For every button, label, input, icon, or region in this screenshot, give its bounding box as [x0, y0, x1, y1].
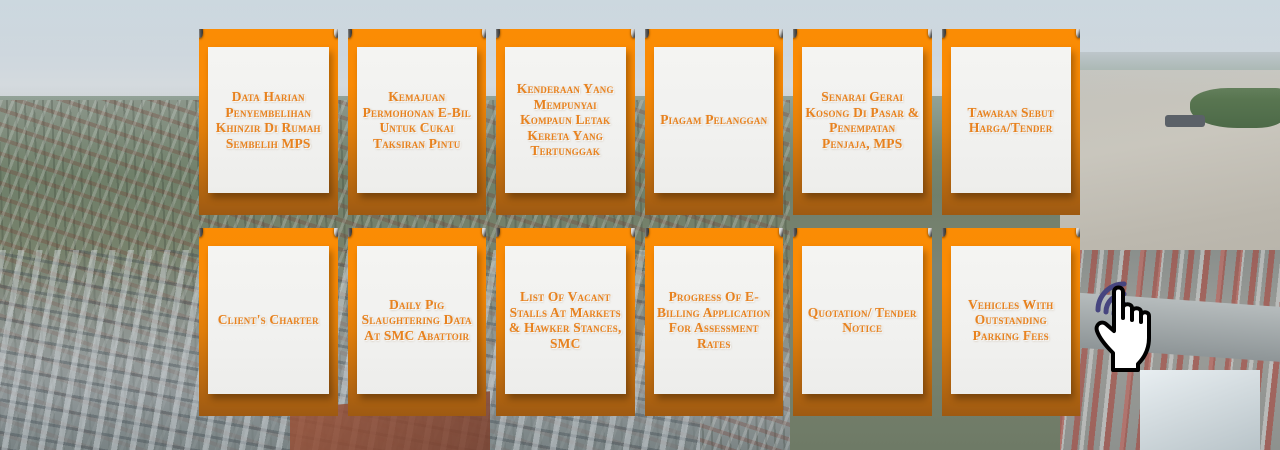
card-paper: Data Harian Penyembelihan Khinzir Di Rum… [208, 47, 329, 193]
pin-icon-right [481, 29, 486, 39]
pin-icon-right [1075, 228, 1080, 238]
pin-icon-right [926, 228, 931, 238]
pin-icon-left [199, 228, 204, 238]
pin-icon-left [942, 228, 947, 238]
pin-icon-left [793, 228, 798, 238]
service-card-list-of-vacant-stalls-markets-hawker-stances[interactable]: List Of Vacant Stalls At Markets & Hawke… [496, 228, 635, 416]
card-title: Vehicles With Outstanding Parking Fees [954, 297, 1069, 344]
service-card-data-harian-penyembelihan-khinzir[interactable]: Data Harian Penyembelihan Khinzir Di Rum… [199, 29, 338, 215]
card-paper: Kemajuan Permohonan e-Bil Untuk Cukai Ta… [357, 47, 478, 193]
service-card-tawaran-sebut-harga-tender[interactable]: Tawaran Sebut Harga/Tender [942, 29, 1081, 215]
card-paper: Client's Charter [208, 246, 329, 394]
card-title: Quotation/ Tender Notice [805, 305, 920, 336]
card-title: Daily Pig Slaughtering Data At SMC Abatt… [360, 297, 475, 344]
card-title: Tawaran Sebut Harga/Tender [954, 105, 1069, 136]
card-title: Client's Charter [218, 312, 319, 328]
page-root: Data Harian Penyembelihan Khinzir Di Rum… [0, 0, 1280, 450]
pin-icon-left [496, 29, 501, 39]
pin-icon-right [332, 228, 337, 238]
pin-icon-right [778, 228, 783, 238]
service-card-piagam-pelanggan[interactable]: Piagam Pelanggan [645, 29, 784, 215]
pin-icon-left [496, 228, 501, 238]
pin-icon-right [629, 29, 634, 39]
card-title: Piagam Pelanggan [660, 112, 767, 128]
card-paper: Piagam Pelanggan [654, 47, 775, 193]
pin-icon-right [778, 29, 783, 39]
pin-icon-left [645, 228, 650, 238]
service-card-progress-of-e-billing-application-assessment-rates[interactable]: Progress Of e-Billing Application For As… [645, 228, 784, 416]
card-title: Data Harian Penyembelihan Khinzir Di Rum… [211, 89, 326, 151]
card-title: Kemajuan Permohonan e-Bil Untuk Cukai Ta… [360, 89, 475, 151]
pin-icon-left [348, 29, 353, 39]
service-card-clients-charter[interactable]: Client's Charter [199, 228, 338, 416]
service-card-kemajuan-permohonan-e-bil-cukai-taksiran-pintu[interactable]: Kemajuan Permohonan e-Bil Untuk Cukai Ta… [348, 29, 487, 215]
pin-icon-left [942, 29, 947, 39]
service-card-grid: Data Harian Penyembelihan Khinzir Di Rum… [199, 29, 1080, 416]
card-title: List Of Vacant Stalls At Markets & Hawke… [508, 289, 623, 351]
card-title: Progress Of e-Billing Application For As… [657, 289, 772, 351]
pin-icon-right [926, 29, 931, 39]
card-paper: Senarai Gerai Kosong di Pasar & Penempat… [802, 47, 923, 193]
pin-icon-left [348, 228, 353, 238]
service-card-daily-pig-slaughtering-data-smc-abattoir[interactable]: Daily Pig Slaughtering Data At SMC Abatt… [348, 228, 487, 416]
pin-icon-right [481, 228, 486, 238]
card-paper: Progress Of e-Billing Application For As… [654, 246, 775, 394]
background-white-building [1140, 370, 1260, 450]
card-title: Senarai Gerai Kosong di Pasar & Penempat… [805, 89, 920, 151]
service-card-senarai-gerai-kosong-pasar-penempatan-penjaja[interactable]: Senarai Gerai Kosong di Pasar & Penempat… [793, 29, 932, 215]
pin-icon-left [645, 29, 650, 39]
card-paper: Vehicles With Outstanding Parking Fees [951, 246, 1072, 394]
pin-icon-left [793, 29, 798, 39]
service-card-vehicles-with-outstanding-parking-fees[interactable]: Vehicles With Outstanding Parking Fees [942, 228, 1081, 416]
card-paper: Quotation/ Tender Notice [802, 246, 923, 394]
card-title: Kenderaan Yang Mempunyai Kompaun Letak K… [508, 81, 623, 159]
service-card-quotation-tender-notice[interactable]: Quotation/ Tender Notice [793, 228, 932, 416]
service-card-kenderaan-kompaun-letak-kereta-tertunggak[interactable]: Kenderaan Yang Mempunyai Kompaun Letak K… [496, 29, 635, 215]
card-paper: Kenderaan Yang Mempunyai Kompaun Letak K… [505, 47, 626, 193]
card-paper: List Of Vacant Stalls At Markets & Hawke… [505, 246, 626, 394]
pin-icon-right [629, 228, 634, 238]
pin-icon-right [332, 29, 337, 39]
pin-icon-left [199, 29, 204, 39]
card-paper: Daily Pig Slaughtering Data At SMC Abatt… [357, 246, 478, 394]
pin-icon-right [1075, 29, 1080, 39]
background-barge [1165, 115, 1205, 127]
card-paper: Tawaran Sebut Harga/Tender [951, 47, 1072, 193]
